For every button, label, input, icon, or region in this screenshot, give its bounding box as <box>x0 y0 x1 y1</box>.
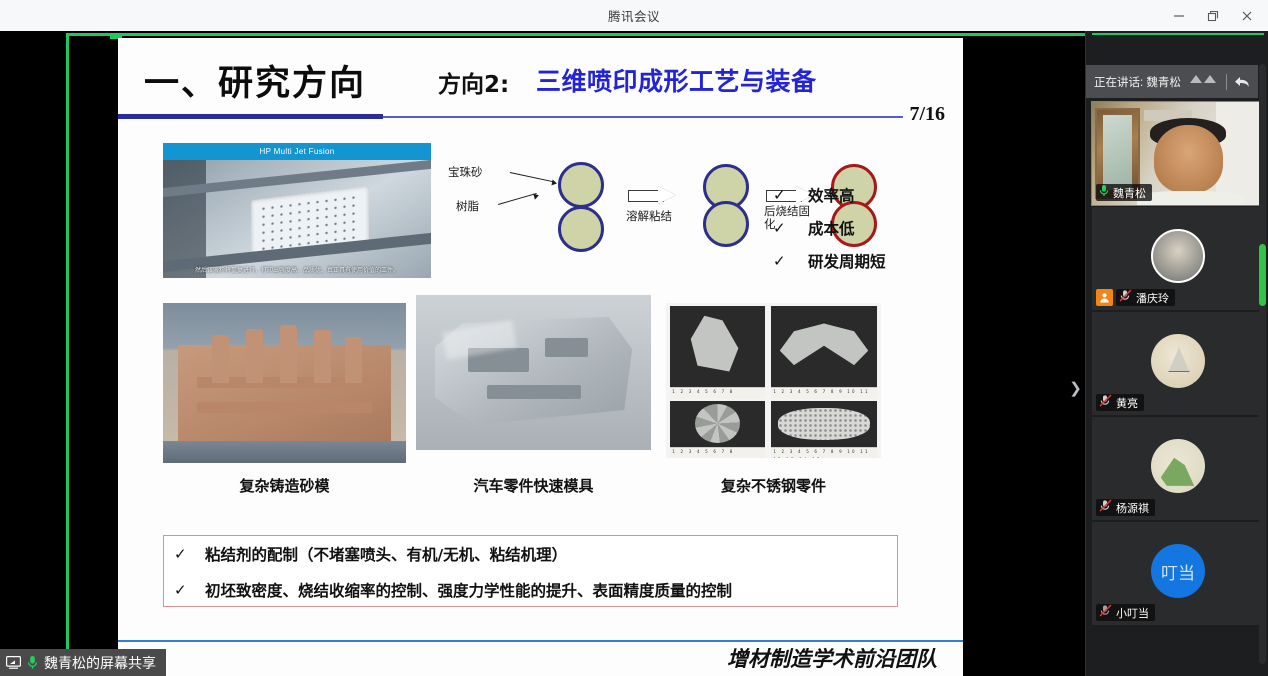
slide-subtitle-label: 方向2: <box>438 65 509 99</box>
key-point-label: 初坯致密度、烧结收缩率的控制、强度力学性能的提升、表面精度质量的控制 <box>205 579 732 601</box>
advantage-label: 成本低 <box>808 217 855 239</box>
microphone-icon <box>27 655 38 670</box>
participant-tile-panqingling[interactable]: 潘庆玲 <box>1092 207 1264 310</box>
key-point-label: 粘结剂的配制（不堵塞喷头、有机/无机、粘结机理） <box>205 543 567 565</box>
hp-multi-jet-fusion-image: HP Multi Jet Fusion 然后该液粉将重复进行，打印出强度高、品质… <box>163 143 431 278</box>
participant-name-badge: 潘庆玲 <box>1116 289 1175 306</box>
participant-name: 小叮当 <box>1116 605 1149 621</box>
diagram-step-dissolve-bond: 溶解粘结 <box>626 208 672 224</box>
stainless-parts-photo: 1 2 3 4 5 6 7 8 1 2 3 4 5 6 7 8 9 10 11 … <box>666 303 881 458</box>
microphone-muted-icon <box>1119 289 1132 307</box>
diagram-arrow-1 <box>628 186 680 204</box>
diagram-particle-top-stage1 <box>558 162 604 208</box>
slide-footer-text: 增材制造学术前沿团队 <box>727 643 937 673</box>
diagram-label-resin: 树脂 <box>456 198 479 214</box>
participant-rail: 正在讲话: 魏青松 <box>1085 31 1268 676</box>
participant-tile-xiaodingdang[interactable]: 叮当 小叮当 <box>1092 522 1264 625</box>
slide-footer-divider <box>118 640 963 643</box>
caption-sand-mold: 复杂铸造砂模 <box>163 475 406 496</box>
diagram-label-ceramic-sand: 宝珠砂 <box>448 164 483 180</box>
check-icon: ✓ <box>773 219 786 237</box>
screenshare-label: 魏青松的屏幕共享 <box>44 653 156 673</box>
list-item: ✓ 效率高 <box>773 178 886 211</box>
window-title: 腾讯会议 <box>608 6 660 25</box>
diagram-particle-bottom-stage2 <box>703 201 749 247</box>
slide-title: 一、研究方向 <box>144 55 366 106</box>
participant-name: 杨源祺 <box>1116 500 1149 516</box>
window-controls <box>1162 0 1264 31</box>
participant-tile-weiqingsong[interactable]: 魏青松 <box>1092 102 1264 205</box>
undo-arrow-icon[interactable] <box>1234 75 1250 89</box>
caption-steel-parts: 复杂不锈钢零件 <box>666 475 881 496</box>
screenshare-indicator: 魏青松的屏幕共享 <box>0 649 166 676</box>
host-badge <box>1096 289 1113 306</box>
check-icon: ✓ <box>773 186 786 204</box>
check-icon: ✓ <box>773 252 786 270</box>
title-divider-thin <box>383 116 903 118</box>
list-item: ✓ 粘结剂的配制（不堵塞喷头、有机/无机、粘结机理） <box>164 536 897 572</box>
rapid-mold-photo <box>416 295 651 450</box>
tencent-meeting-window: 腾讯会议 一、研究方向 <box>0 0 1268 676</box>
check-icon: ✓ <box>174 581 187 599</box>
ruler-scale: 1 2 3 4 5 6 7 8 9 10 11 12 13 14 15 <box>771 447 876 458</box>
audio-level-icon <box>1189 72 1219 91</box>
close-icon[interactable] <box>1230 0 1264 31</box>
key-points-box: ✓ 粘结剂的配制（不堵塞喷头、有机/无机、粘结机理） ✓ 初坯致密度、烧结收缩率… <box>163 535 898 607</box>
minimize-icon[interactable] <box>1162 0 1196 31</box>
caption-rapid-mold: 汽车零件快速模具 <box>416 475 651 496</box>
participant-name-badge: 黄亮 <box>1096 394 1144 411</box>
divider <box>1226 74 1227 90</box>
slide-header: 一、研究方向 方向2: 三维喷印成形工艺与装备 7/16 <box>118 38 963 122</box>
scrollbar-thumb[interactable] <box>1259 244 1266 306</box>
rail-share-border <box>1092 33 1264 35</box>
participant-name-badge: 魏青松 <box>1096 184 1152 201</box>
restore-icon[interactable] <box>1196 0 1230 31</box>
slide-page-indicator: 7/16 <box>909 103 945 126</box>
microphone-muted-icon <box>1099 604 1112 622</box>
shared-screen-area: 一、研究方向 方向2: 三维喷印成形工艺与装备 7/16 HP Multi Je… <box>0 31 1085 676</box>
title-divider-thick <box>118 114 383 119</box>
hp-image-header: HP Multi Jet Fusion <box>163 143 431 160</box>
microphone-muted-icon <box>1099 499 1112 517</box>
microphone-muted-icon <box>1099 394 1112 412</box>
check-icon: ✓ <box>174 545 187 563</box>
slide-top-row: HP Multi Jet Fusion 然后该液粉将重复进行，打印出强度高、品质… <box>118 138 963 283</box>
hp-image-overlay-caption: 然后该液粉将重复进行，打印出强度高、品质优、真正具有使用价值的工件。 <box>163 267 431 275</box>
avatar <box>1151 439 1205 493</box>
list-item: ✓ 成本低 <box>773 211 886 244</box>
participant-name-badge: 小叮当 <box>1096 604 1155 621</box>
slide-sample-row: 1 2 3 4 5 6 7 8 1 2 3 4 5 6 7 8 9 10 11 … <box>118 303 963 518</box>
speaker-bar-actions <box>1189 72 1250 91</box>
active-speaker-label: 正在讲话: 魏青松 <box>1094 74 1181 90</box>
slide-subtitle-highlight: 三维喷印成形工艺与装备 <box>536 62 817 98</box>
active-speaker-bar: 正在讲话: 魏青松 <box>1086 65 1258 98</box>
ruler-scale: 1 2 3 4 5 6 7 8 9 10 11 <box>771 387 876 399</box>
hp-printer-photo: 然后该液粉将重复进行，打印出强度高、品质优、真正具有使用价值的工件。 <box>163 160 431 278</box>
participant-name: 魏青松 <box>1113 185 1146 201</box>
advantage-label: 研发周期短 <box>808 250 886 272</box>
sand-mold-photo <box>163 303 406 463</box>
diagram-particle-bottom-stage1 <box>558 206 604 252</box>
advantages-list: ✓ 效率高 ✓ 成本低 ✓ 研发周期短 <box>773 178 886 277</box>
avatar <box>1151 229 1205 283</box>
participant-tile-huangliang[interactable]: 黄亮 <box>1092 312 1264 415</box>
avatar: 叮当 <box>1151 544 1205 598</box>
participant-name: 潘庆玲 <box>1136 290 1169 306</box>
avatar <box>1151 334 1205 388</box>
ruler-scale: 1 2 3 4 5 6 7 8 <box>670 447 765 458</box>
advantage-label: 效率高 <box>808 184 855 206</box>
chevron-right-icon[interactable]: ❯ <box>1066 371 1085 405</box>
ruler-scale: 1 2 3 4 5 6 7 8 <box>670 387 765 399</box>
title-divider <box>118 114 963 120</box>
participant-list-scrollbar[interactable] <box>1259 64 1266 664</box>
list-item: ✓ 初坯致密度、烧结收缩率的控制、强度力学性能的提升、表面精度质量的控制 <box>164 572 897 608</box>
microphone-icon <box>1099 184 1109 202</box>
participant-name-badge: 杨源祺 <box>1096 499 1155 516</box>
list-item: ✓ 研发周期短 <box>773 244 886 277</box>
window-titlebar: 腾讯会议 <box>0 0 1268 31</box>
screen-share-icon <box>6 656 21 669</box>
participant-tile-yangyuanqi[interactable]: 杨源祺 <box>1092 417 1264 520</box>
presentation-slide: 一、研究方向 方向2: 三维喷印成形工艺与装备 7/16 HP Multi Je… <box>118 38 963 676</box>
participant-name: 黄亮 <box>1116 395 1138 411</box>
